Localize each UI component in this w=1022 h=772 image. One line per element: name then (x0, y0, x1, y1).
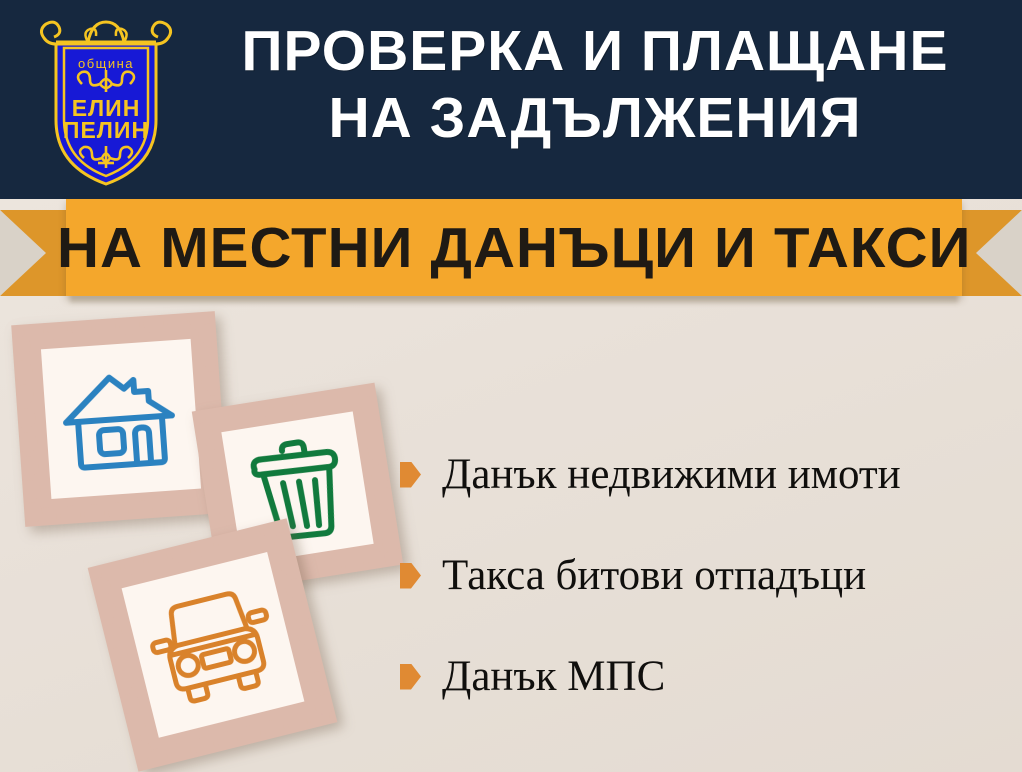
bullet-arrow-icon (400, 664, 421, 690)
title-line-1: ПРОВЕРКА И ПЛАЩАНЕ (190, 22, 1000, 80)
list-item[interactable]: Такса битови отпадъци (400, 525, 1010, 626)
title-line-2: НА ЗАДЪЛЖЕНИЯ (190, 89, 1000, 147)
bullet-arrow-icon (400, 563, 421, 589)
svg-text:ПЕЛИН: ПЕЛИН (63, 117, 149, 143)
municipality-logo: община ЕЛИН ПЕЛИН (26, 8, 186, 188)
svg-text:община: община (78, 56, 134, 71)
page-title: ПРОВЕРКА И ПЛАЩАНЕ НА ЗАДЪЛЖЕНИЯ (190, 22, 1000, 147)
list-item-label: Данък МПС (442, 654, 665, 699)
bullet-arrow-icon (400, 462, 421, 488)
list-item[interactable]: Данък недвижими имоти (400, 424, 1010, 525)
tax-type-list: Данък недвижими имоти Такса битови отпад… (400, 424, 1010, 727)
subtitle-ribbon: НА МЕСТНИ ДАНЪЦИ И ТАКСИ (0, 196, 1022, 314)
ribbon-band: НА МЕСТНИ ДАНЪЦИ И ТАКСИ (66, 199, 962, 296)
header-banner: община ЕЛИН ПЕЛИН (0, 0, 1022, 199)
list-item-label: Данък недвижими имоти (442, 452, 901, 497)
list-item-label: Такса битови отпадъци (442, 553, 866, 598)
ribbon-text: НА МЕСТНИ ДАНЪЦИ И ТАКСИ (57, 215, 971, 281)
poster-canvas: община ЕЛИН ПЕЛИН (0, 0, 1022, 772)
list-item[interactable]: Данък МПС (400, 626, 1010, 727)
